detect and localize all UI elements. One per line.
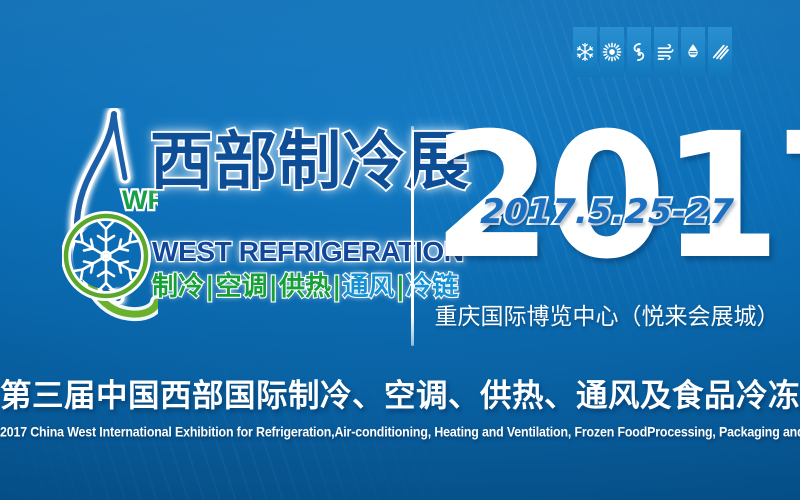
category-separator-4: | [395, 274, 407, 300]
category-ventilation: 通风 [343, 274, 395, 300]
vertical-divider [411, 126, 414, 346]
water-drop-icon [683, 42, 703, 62]
category-separator-1: | [204, 274, 216, 300]
airflow-icon [656, 42, 676, 62]
event-venue: 重庆国际博览中心（悦来会展城） [432, 297, 782, 331]
icon-tile-water-drop [681, 27, 705, 77]
droplet-logo-mark: WR [62, 108, 158, 343]
category-air-conditioning: 空调 [216, 274, 268, 300]
fan-spiral-icon [629, 42, 649, 62]
snowflake-icon [575, 42, 595, 62]
category-separator-3: | [331, 274, 343, 300]
logo-chinese-name: 西部制冷展 [150, 130, 470, 193]
icon-tile-fan-spiral [627, 27, 651, 77]
icon-tile-heat-wave [708, 27, 732, 77]
exhibition-title-english: 2017 China West International Exhibition… [0, 424, 800, 440]
event-dates: 2017.5.25-27 [431, 192, 783, 232]
logo-english-name: WEST REFRIGERATION [152, 236, 464, 268]
heat-wave-icon [710, 42, 730, 62]
event-info-block: 2017 2017.5.25-27 重庆国际博览中心（悦来会展城） [432, 116, 782, 346]
logo-block: WR 西部制冷展 WEST REFRIGERATION 制冷 | 空调 | 供热… [62, 108, 407, 343]
sun-icon [602, 42, 622, 62]
exhibition-title-chinese: 第三届中国西部国际制冷、空调、供热、通风及食品冷冻加工展览会 [0, 370, 800, 416]
category-separator-2: | [268, 274, 280, 300]
category-refrigeration: 制冷 [152, 274, 204, 300]
icon-tile-sun [600, 27, 624, 77]
category-heating: 供热 [279, 274, 331, 300]
icon-tile-airflow [654, 27, 678, 77]
exhibition-banner: WR 西部制冷展 WEST REFRIGERATION 制冷 | 空调 | 供热… [0, 0, 800, 500]
icon-strip [573, 27, 732, 77]
icon-tile-snowflake [573, 27, 597, 77]
